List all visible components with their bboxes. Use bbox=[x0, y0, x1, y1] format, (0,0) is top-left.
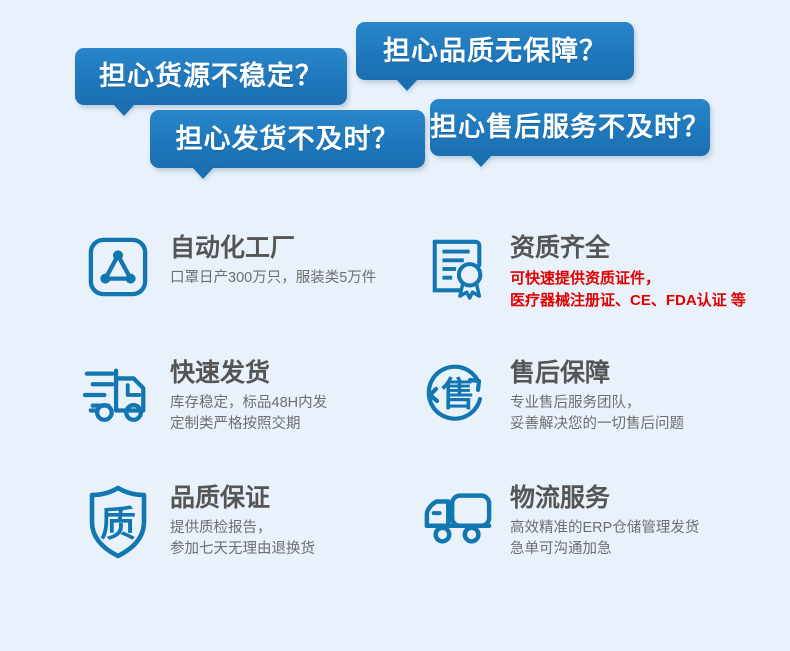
feature-title: 品质保证 bbox=[170, 484, 315, 513]
feature-desc-line: 急单可沟通加急 bbox=[510, 539, 699, 560]
logistics-van-icon bbox=[422, 482, 494, 568]
concern-bubble-quality-text: 担心品质无保障？ bbox=[383, 38, 607, 65]
concern-bubble-supply: 担心货源不稳定？ bbox=[75, 48, 347, 105]
feature-text-block: 自动化工厂 口罩日产300万只，服装类5万件 bbox=[170, 232, 376, 289]
feature-grid: 自动化工厂 口罩日产300万只，服装类5万件 资质齐全 bbox=[0, 232, 790, 612]
bubble-tail-icon bbox=[470, 155, 492, 167]
automation-factory-icon bbox=[82, 232, 154, 314]
promo-banner: 担心货源不稳定？ 担心品质无保障？ 担心发货不及时？ 担心售后服务不及时？ bbox=[0, 0, 790, 651]
fast-delivery-truck-icon bbox=[82, 357, 154, 443]
concern-bubble-aftersales-text: 担心售后服务不及时？ bbox=[430, 114, 710, 141]
concern-bubble-shipping-text: 担心发货不及时？ bbox=[176, 126, 400, 153]
feature-logistics-service: 物流服务 高效精准的ERP仓储管理发货 急单可沟通加急 bbox=[422, 482, 790, 612]
feature-desc-line: 提供质检报告， bbox=[170, 518, 315, 539]
bubble-tail-icon bbox=[192, 167, 214, 179]
feature-quality-guarantee: 质 品质保证 提供质检报告， 参加七天无理由退换货 bbox=[82, 482, 422, 612]
after-sales-cycle-icon: 售 bbox=[422, 357, 494, 439]
concern-bubble-quality: 担心品质无保障？ bbox=[356, 22, 634, 80]
bubble-tail-icon bbox=[113, 104, 135, 116]
feature-desc-line: 妥善解决您的一切售后问题 bbox=[510, 414, 684, 435]
quality-glyph: 质 bbox=[100, 504, 136, 545]
feature-text-block: 售后保障 专业售后服务团队， 妥善解决您的一切售后问题 bbox=[510, 357, 684, 436]
feature-text-block: 资质齐全 可快速提供资质证件， 医疗器械注册证、CE、FDA认证 等 bbox=[510, 232, 746, 312]
feature-title: 自动化工厂 bbox=[170, 234, 376, 263]
feature-text-block: 物流服务 高效精准的ERP仓储管理发货 急单可沟通加急 bbox=[510, 482, 699, 561]
concern-bubbles-group: 担心货源不稳定？ 担心品质无保障？ 担心发货不及时？ 担心售后服务不及时？ bbox=[0, 0, 790, 200]
feature-desc-line: 可快速提供资质证件， bbox=[510, 268, 746, 290]
feature-desc-line: 定制类严格按照交期 bbox=[170, 414, 327, 435]
feature-certificates: 资质齐全 可快速提供资质证件， 医疗器械注册证、CE、FDA认证 等 bbox=[422, 232, 790, 357]
concern-bubble-shipping: 担心发货不及时？ bbox=[150, 110, 425, 168]
feature-title: 资质齐全 bbox=[510, 234, 746, 263]
feature-desc-line: 高效精准的ERP仓储管理发货 bbox=[510, 518, 699, 539]
certificate-icon bbox=[422, 232, 494, 314]
feature-desc-line: 口罩日产300万只，服装类5万件 bbox=[170, 268, 376, 289]
feature-text-block: 快速发货 库存稳定，标品48H内发 定制类严格按照交期 bbox=[170, 357, 327, 436]
feature-fast-delivery: 快速发货 库存稳定，标品48H内发 定制类严格按照交期 bbox=[82, 357, 422, 482]
feature-text-block: 品质保证 提供质检报告， 参加七天无理由退换货 bbox=[170, 482, 315, 561]
quality-shield-icon: 质 bbox=[82, 482, 154, 562]
feature-title: 快速发货 bbox=[170, 359, 327, 388]
feature-after-sales: 售 售后保障 专业售后服务团队， 妥善解决您的一切售后问题 bbox=[422, 357, 790, 482]
feature-desc-line: 参加七天无理由退换货 bbox=[170, 539, 315, 560]
feature-desc-line: 专业售后服务团队， bbox=[510, 393, 684, 414]
feature-automation-factory: 自动化工厂 口罩日产300万只，服装类5万件 bbox=[82, 232, 422, 357]
feature-desc-line: 医疗器械注册证、CE、FDA认证 等 bbox=[510, 290, 746, 312]
bubble-tail-icon bbox=[396, 79, 418, 91]
concern-bubble-aftersales: 担心售后服务不及时？ bbox=[430, 99, 710, 156]
after-sales-glyph: 售 bbox=[441, 375, 475, 415]
feature-title: 售后保障 bbox=[510, 359, 684, 388]
concern-bubble-supply-text: 担心货源不稳定？ bbox=[99, 63, 323, 90]
feature-desc-line: 库存稳定，标品48H内发 bbox=[170, 393, 327, 414]
feature-title: 物流服务 bbox=[510, 484, 699, 513]
